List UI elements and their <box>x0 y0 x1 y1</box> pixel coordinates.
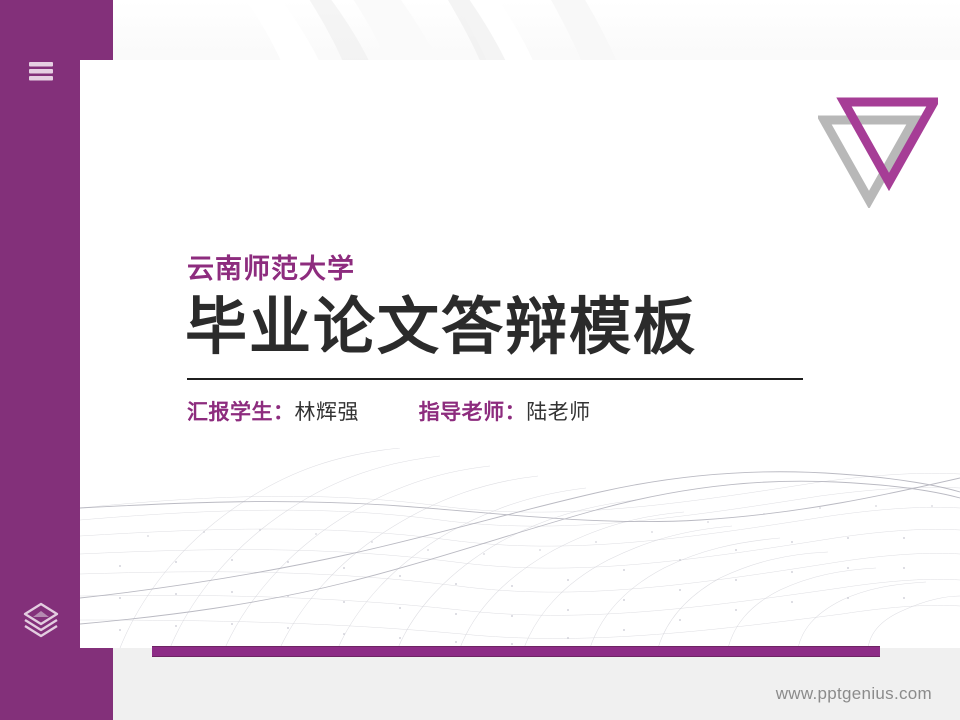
page-title: 毕业论文答辩模板 <box>185 293 885 362</box>
title-text-block: 云南师范大学 毕业论文答辩模板 汇报学生：林辉强 指导老师：陆老师 <box>185 255 885 423</box>
double-triangle-logo <box>818 88 938 208</box>
accent-bar <box>152 646 880 657</box>
title-divider <box>187 378 803 380</box>
slide-content-card: 云南师范大学 毕业论文答辩模板 汇报学生：林辉强 指导老师：陆老师 <box>80 60 960 648</box>
university-subtitle: 云南师范大学 <box>187 255 885 285</box>
byline: 汇报学生：林辉强 指导老师：陆老师 <box>187 402 885 423</box>
student-group: 汇报学生：林辉强 <box>187 402 359 423</box>
hamburger-menu-icon[interactable] <box>20 50 62 92</box>
student-name: 林辉强 <box>295 401 360 424</box>
wireframe-mesh-decoration <box>80 448 960 648</box>
advisor-name: 陆老师 <box>526 401 591 424</box>
layers-stack-icon[interactable] <box>20 598 62 640</box>
footer-url: www.pptgenius.com <box>776 684 932 704</box>
presentation-slide: 云南师范大学 毕业论文答辩模板 汇报学生：林辉强 指导老师：陆老师 www.pp… <box>0 0 960 720</box>
student-label: 汇报学生： <box>187 401 295 424</box>
advisor-group: 指导老师：陆老师 <box>419 402 591 423</box>
advisor-label: 指导老师： <box>419 401 527 424</box>
